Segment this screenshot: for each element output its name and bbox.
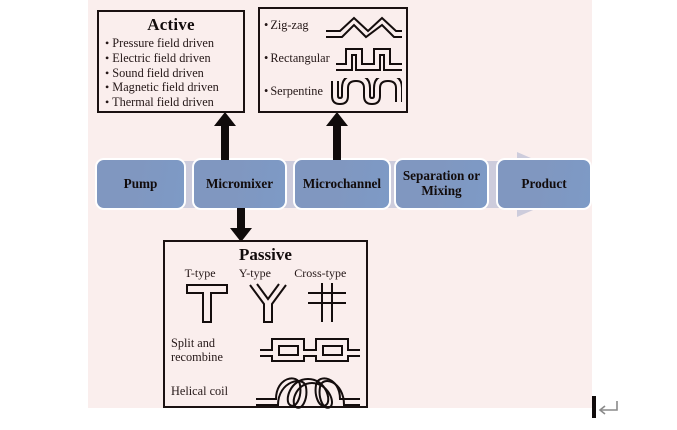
paragraph-return-icon [598, 400, 618, 416]
bullet-icon: • [264, 18, 268, 32]
channel-shape-row-zigzag: •Zig-zag [260, 9, 406, 42]
passive-box-title: Passive [165, 245, 366, 265]
stage-label: Separation or Mixing [403, 169, 480, 199]
zigzag-label: Zig-zag [270, 18, 308, 32]
helical-coil-label: Helical coil [171, 384, 256, 398]
active-list-item: • Sound field driven [99, 66, 243, 81]
stage-box-product[interactable]: Product [496, 158, 592, 210]
active-item-label: Sound field driven [112, 66, 204, 80]
bullet-icon: • [264, 84, 268, 98]
junction-label-t-type: T-type [185, 266, 216, 281]
channel-shape-label: •Rectangular [264, 51, 330, 66]
arrow-micromixer-to-active [213, 112, 237, 160]
bullet-icon: • [105, 80, 109, 94]
active-item-label: Electric field driven [112, 51, 210, 65]
stage-box-micromixer[interactable]: Micromixer [192, 158, 287, 210]
active-list-item: • Pressure field driven [99, 36, 243, 51]
channel-shapes-box: •Zig-zag •Rectangular •Ser [258, 7, 408, 113]
split-and-recombine-icon [257, 333, 360, 367]
passive-row-helical-coil: Helical coil [165, 371, 366, 411]
t-junction-icon [184, 282, 230, 329]
text-caret [592, 396, 596, 418]
zigzag-channel-icon [309, 13, 406, 39]
stage-box-microchannel[interactable]: Microchannel [293, 158, 391, 210]
stage-label-line2: Mixing [421, 183, 461, 198]
cross-junction-icon [306, 282, 348, 329]
label-line2: recombine [171, 350, 223, 364]
stage-box-separation-or-mixing[interactable]: Separation or Mixing [394, 158, 489, 210]
stage-label: Micromixer [206, 177, 273, 192]
stage-label: Microchannel [303, 177, 381, 192]
active-list-item: • Thermal field driven [99, 95, 243, 110]
stage-label: Pump [124, 177, 158, 192]
junction-labels-row: T-type Y-type Cross-type [165, 266, 366, 281]
rectangular-channel-icon [330, 45, 406, 72]
active-list-item: • Magnetic field driven [99, 80, 243, 95]
channel-shape-row-serpentine: •Serpentine [260, 75, 406, 108]
bullet-icon: • [105, 51, 109, 65]
stage-box-pump[interactable]: Pump [95, 158, 186, 210]
serpentine-channel-icon [323, 78, 406, 106]
serpentine-label: Serpentine [270, 84, 323, 98]
passive-row-split-and-recombine: Split and recombine [165, 333, 366, 367]
rectangular-label: Rectangular [270, 51, 329, 65]
stage-label: Product [521, 177, 566, 192]
active-item-label: Thermal field driven [112, 95, 214, 109]
bullet-icon: • [264, 51, 268, 65]
bullet-icon: • [105, 36, 109, 50]
stage-label-line1: Separation or [403, 168, 480, 183]
channel-shape-row-rectangular: •Rectangular [260, 42, 406, 75]
split-and-recombine-label: Split and recombine [171, 336, 257, 364]
y-junction-icon [247, 282, 289, 329]
helical-coil-icon [256, 371, 360, 411]
junction-label-cross-type: Cross-type [294, 266, 346, 281]
passive-methods-box: Passive T-type Y-type Cross-type [163, 240, 368, 408]
active-item-label: Magnetic field driven [112, 80, 219, 94]
junction-label-y-type: Y-type [239, 266, 271, 281]
active-item-label: Pressure field driven [112, 36, 214, 50]
channel-shape-label: •Serpentine [264, 84, 323, 99]
active-methods-box: Active • Pressure field driven • Electri… [97, 10, 245, 113]
active-list-item: • Electric field driven [99, 51, 243, 66]
junction-icons-row [165, 281, 366, 329]
label-line1: Split and [171, 336, 215, 350]
bullet-icon: • [105, 95, 109, 109]
arrow-microchannel-to-shapes [325, 112, 349, 160]
active-box-title: Active [99, 16, 243, 33]
arrow-micromixer-to-passive [229, 208, 253, 242]
channel-shape-label: •Zig-zag [264, 18, 309, 33]
bullet-icon: • [105, 66, 109, 80]
